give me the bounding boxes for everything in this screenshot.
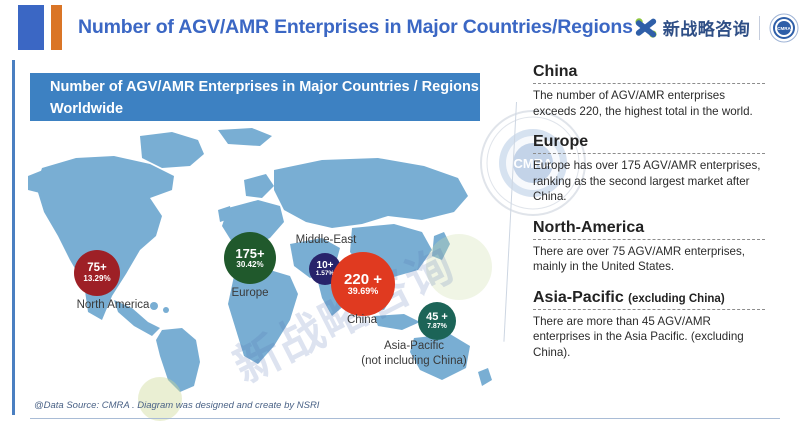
data-source-note: @Data Source: CMRA . Diagram was designe…: [34, 400, 319, 411]
bubble-percent: 13.29%: [83, 275, 110, 283]
bubble-china: 220 + 39.69%: [331, 252, 395, 316]
bubble-percent: 7.87%: [427, 323, 447, 330]
summary-section-asia-pacific: Asia-Pacific (excluding China) There are…: [533, 289, 791, 361]
left-accent-rail: [12, 60, 15, 415]
map-label-middle-east: Middle-East: [276, 234, 376, 246]
svg-text:CMRA: CMRA: [777, 26, 791, 31]
map-label-asia-pacific-line2: (not including China): [340, 354, 488, 369]
panel-separator: [503, 102, 517, 342]
map-label-china: China: [327, 314, 397, 326]
footer-rule: [30, 418, 780, 419]
section-dashed-rule: [533, 153, 765, 154]
bubble-value: 220 +: [344, 272, 382, 287]
summary-panel: China The number of AGV/AMR enterprises …: [533, 63, 791, 413]
bubble-north-america: 75+ 13.29%: [74, 250, 120, 296]
section-dashed-rule: [533, 83, 765, 84]
cmra-seal-icon: CMRA: [769, 13, 799, 43]
bubble-asia-pacific: 45 + 7.87%: [418, 302, 456, 340]
map-label-north-america: North America: [58, 299, 168, 311]
bubble-percent: 39.69%: [348, 287, 379, 296]
section-dashed-rule: [533, 309, 765, 310]
section-heading: China: [533, 63, 791, 81]
header-blue-block: [18, 5, 44, 50]
section-heading-main: Asia-Pacific: [533, 289, 624, 306]
section-body: There are over 75 AGV/AMR enterprises, m…: [533, 244, 767, 275]
bubble-value: 175+: [235, 247, 264, 260]
header-divider: [759, 16, 760, 40]
map-label-asia-pacific: Asia-Pacific (not including China): [340, 339, 488, 369]
bubble-value: 45 +: [426, 312, 448, 323]
header-orange-block: [51, 5, 62, 50]
section-body: There are more than 45 AGV/AMR enterpris…: [533, 314, 767, 361]
header-title: Number of AGV/AMR Enterprises in Major C…: [78, 16, 633, 39]
map-card: Number of AGV/AMR Enterprises in Major C…: [22, 62, 500, 417]
page-header: Number of AGV/AMR Enterprises in Major C…: [0, 0, 800, 55]
summary-section-china: China The number of AGV/AMR enterprises …: [533, 63, 791, 119]
section-heading: North-America: [533, 219, 791, 237]
nsri-x-logo-icon: [633, 15, 659, 41]
card-title: Number of AGV/AMR Enterprises in Major C…: [30, 73, 480, 121]
section-dashed-rule: [533, 239, 765, 240]
section-heading: Europe: [533, 133, 791, 151]
header-brand-group: 新战略咨询 CMRA: [633, 5, 800, 50]
brand-name-cn: 新战略咨询: [663, 15, 751, 40]
map-label-europe: Europe: [218, 287, 282, 299]
bubble-europe: 175+ 30.42%: [224, 232, 276, 284]
section-body: Europe has over 175 AGV/AMR enterprises,…: [533, 158, 767, 205]
summary-section-north-america: North-America There are over 75 AGV/AMR …: [533, 219, 791, 275]
section-heading-sub: (excluding China): [628, 293, 724, 305]
section-heading: Asia-Pacific (excluding China): [533, 289, 791, 307]
map-label-asia-pacific-line1: Asia-Pacific: [340, 339, 488, 354]
summary-section-europe: Europe Europe has over 175 AGV/AMR enter…: [533, 133, 791, 205]
world-map: 新战略咨询 75+ 13.29% 175+ 30.42% 10+ 1.57% 2…: [22, 124, 500, 394]
bubble-percent: 30.42%: [236, 261, 263, 269]
section-body: The number of AGV/AMR enterprises exceed…: [533, 88, 767, 119]
slide-root: Number of AGV/AMR Enterprises in Major C…: [0, 0, 800, 435]
